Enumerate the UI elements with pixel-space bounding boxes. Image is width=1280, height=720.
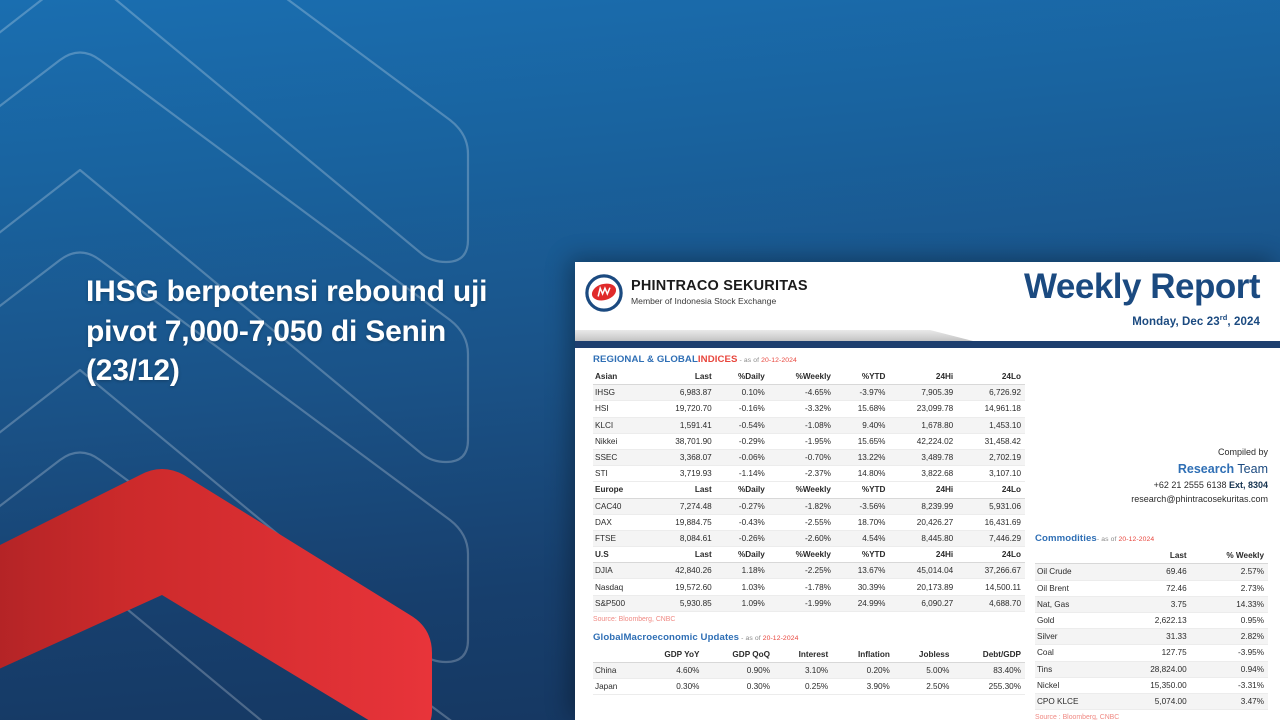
cell: -1.08% bbox=[769, 417, 835, 433]
cell: 0.95% bbox=[1191, 612, 1268, 628]
table-row[interactable]: Nasdaq19,572.601.03%-1.78%30.39%20,173.8… bbox=[593, 579, 1025, 595]
col-last: Last bbox=[1115, 548, 1190, 564]
cell: HSI bbox=[593, 401, 648, 417]
table-header-row: Europe Last %Daily %Weekly %YTD 24Hi 24L… bbox=[593, 482, 1025, 498]
cell: CPO KLCE bbox=[1035, 693, 1115, 709]
table-row[interactable]: Nikkei38,701.90-0.29%-1.95%15.65%42,224.… bbox=[593, 433, 1025, 449]
document-header: PHINTRACO SEKURITAS Member of Indonesia … bbox=[575, 262, 1280, 328]
table-row[interactable]: Coal127.75-3.95% bbox=[1035, 645, 1268, 661]
team-rest: Team bbox=[1234, 462, 1268, 476]
left-column: REGIONAL & GLOBALINDICES - as of 20-12-2… bbox=[593, 354, 1025, 720]
cell: -1.82% bbox=[769, 498, 835, 514]
table-row[interactable]: S&P5005,930.851.09%-1.99%24.99%6,090.274… bbox=[593, 595, 1025, 611]
col-gdp-yoy: GDP YoY bbox=[637, 647, 704, 663]
cell: 19,720.70 bbox=[648, 401, 716, 417]
cell: 5,074.00 bbox=[1115, 693, 1190, 709]
cell: 7,905.39 bbox=[889, 385, 957, 401]
table-row[interactable]: CAC407,274.48-0.27%-1.82%-3.56%8,239.995… bbox=[593, 498, 1025, 514]
commodities-asof-date: 20-12-2024 bbox=[1118, 536, 1154, 543]
header-ribbon-zone bbox=[575, 328, 1280, 348]
table-row[interactable]: DJIA42,840.261.18%-2.25%13.67%45,014.043… bbox=[593, 563, 1025, 579]
cell: 14,500.11 bbox=[957, 579, 1025, 595]
cell: 0.20% bbox=[832, 663, 894, 679]
indices-europe-body: CAC407,274.48-0.27%-1.82%-3.56%8,239.995… bbox=[593, 498, 1025, 547]
indices-asof-label: - as of bbox=[738, 357, 762, 364]
cell: 3,368.07 bbox=[648, 449, 716, 465]
cell: 13.22% bbox=[835, 449, 890, 465]
table-row[interactable]: HSI19,720.70-0.16%-3.32%15.68%23,099.781… bbox=[593, 401, 1025, 417]
cell: Silver bbox=[1035, 629, 1115, 645]
report-date-main: Monday, Dec 23 bbox=[1132, 316, 1219, 328]
table-row[interactable]: Oil Brent72.462.73% bbox=[1035, 580, 1268, 596]
cell: 38,701.90 bbox=[648, 433, 716, 449]
cell: 8,084.61 bbox=[648, 530, 716, 546]
cell: 13.67% bbox=[835, 563, 890, 579]
col-last: Last bbox=[648, 482, 716, 498]
col-daily: %Daily bbox=[716, 482, 769, 498]
macro-body: China4.60%0.90%3.10%0.20%5.00%83.40% Jap… bbox=[593, 663, 1025, 695]
macro-table[interactable]: GDP YoY GDP QoQ Interest Inflation Joble… bbox=[593, 647, 1025, 696]
col-commodity bbox=[1035, 548, 1115, 564]
cell: 42,840.26 bbox=[648, 563, 716, 579]
cell: IHSG bbox=[593, 385, 648, 401]
table-row[interactable]: SSEC3,368.07-0.06%-0.70%13.22%3,489.782,… bbox=[593, 449, 1025, 465]
cell: 14.33% bbox=[1191, 596, 1268, 612]
cell: STI bbox=[593, 466, 648, 482]
table-row[interactable]: Gold2,622.130.95% bbox=[1035, 612, 1268, 628]
report-title-block: Weekly Report Monday, Dec 23rd, 2024 bbox=[1024, 270, 1262, 328]
cell: 23,099.78 bbox=[889, 401, 957, 417]
research-team-line: Research Team bbox=[1035, 460, 1268, 479]
table-row[interactable]: Nickel15,350.00-3.31% bbox=[1035, 677, 1268, 693]
cell: -0.27% bbox=[716, 498, 769, 514]
col-jobless: Jobless bbox=[894, 647, 954, 663]
macro-asof-label: - as of bbox=[739, 635, 763, 642]
spacer bbox=[1035, 507, 1268, 533]
cell: -3.32% bbox=[769, 401, 835, 417]
cell: 15.68% bbox=[835, 401, 890, 417]
col-daily: %Daily bbox=[716, 369, 769, 385]
report-date-year: , 2024 bbox=[1227, 316, 1260, 328]
commodities-body: Oil Crude69.462.57% Oil Brent72.462.73% … bbox=[1035, 564, 1268, 710]
indices-asian-body: IHSG6,983.870.10%-4.65%-3.97%7,905.396,7… bbox=[593, 385, 1025, 482]
weekly-report-document[interactable]: PHINTRACO SEKURITAS Member of Indonesia … bbox=[575, 262, 1280, 720]
indices-asian-head: Asian Last %Daily %Weekly %YTD 24Hi 24Lo bbox=[593, 369, 1025, 385]
table-row[interactable]: STI3,719.93-1.14%-2.37%14.80%3,822.683,1… bbox=[593, 466, 1025, 482]
red-chevron-arrow bbox=[0, 455, 460, 720]
cell: 6,726.92 bbox=[957, 385, 1025, 401]
indices-us-head: U.S Last %Daily %Weekly %YTD 24Hi 24Lo bbox=[593, 547, 1025, 563]
col-24hi: 24Hi bbox=[889, 547, 957, 563]
commodities-source: Source : Bloomberg, CNBC bbox=[1035, 714, 1268, 720]
table-header-row: U.S Last %Daily %Weekly %YTD 24Hi 24Lo bbox=[593, 547, 1025, 563]
cell: 2.82% bbox=[1191, 629, 1268, 645]
commodities-table[interactable]: Last % Weekly Oil Crude69.462.57% Oil Br… bbox=[1035, 548, 1268, 710]
cell: 42,224.02 bbox=[889, 433, 957, 449]
macro-head: GDP YoY GDP QoQ Interest Inflation Joble… bbox=[593, 647, 1025, 663]
report-title: Weekly Report bbox=[1024, 270, 1260, 304]
cell: 1,678.80 bbox=[889, 417, 957, 433]
cell: 2,622.13 bbox=[1115, 612, 1190, 628]
table-row[interactable]: Nat, Gas3.7514.33% bbox=[1035, 596, 1268, 612]
cell: 8,445.80 bbox=[889, 530, 957, 546]
col-inflation: Inflation bbox=[832, 647, 894, 663]
col-gdp-qoq: GDP QoQ bbox=[703, 647, 774, 663]
cell: 127.75 bbox=[1115, 645, 1190, 661]
cell: -0.26% bbox=[716, 530, 769, 546]
table-row[interactable]: FTSE8,084.61-0.26%-2.60%4.54%8,445.807,4… bbox=[593, 530, 1025, 546]
cell: 20,426.27 bbox=[889, 514, 957, 530]
cell: 6,090.27 bbox=[889, 595, 957, 611]
cell: 3,107.10 bbox=[957, 466, 1025, 482]
cell: Nat, Gas bbox=[1035, 596, 1115, 612]
cell: KLCI bbox=[593, 417, 648, 433]
cell: -1.99% bbox=[769, 595, 835, 611]
indices-asof-date: 20-12-2024 bbox=[761, 357, 797, 364]
phintraco-logo-icon bbox=[585, 274, 623, 312]
cell: 18.70% bbox=[835, 514, 890, 530]
cell: -0.70% bbox=[769, 449, 835, 465]
cell: -2.60% bbox=[769, 530, 835, 546]
cell: 0.30% bbox=[703, 679, 774, 695]
cell: 37,266.67 bbox=[957, 563, 1025, 579]
col-24hi: 24Hi bbox=[889, 482, 957, 498]
brand-tagline: Member of Indonesia Stock Exchange bbox=[631, 297, 808, 306]
cell: 20,173.89 bbox=[889, 579, 957, 595]
col-europe: Europe bbox=[593, 482, 648, 498]
col-weekly: %Weekly bbox=[769, 482, 835, 498]
cell: 2.50% bbox=[894, 679, 954, 695]
cell: Nikkei bbox=[593, 433, 648, 449]
table-header-row: GDP YoY GDP QoQ Interest Inflation Joble… bbox=[593, 647, 1025, 663]
cell: 7,446.29 bbox=[957, 530, 1025, 546]
col-country bbox=[593, 647, 637, 663]
cell: -0.43% bbox=[716, 514, 769, 530]
col-last: Last bbox=[648, 369, 716, 385]
table-row[interactable]: Tins28,824.000.94% bbox=[1035, 661, 1268, 677]
col-last: Last bbox=[648, 547, 716, 563]
commodities-title: Commodities bbox=[1035, 533, 1097, 544]
cell: 9.40% bbox=[835, 417, 890, 433]
cell: 72.46 bbox=[1115, 580, 1190, 596]
cell: -3.31% bbox=[1191, 677, 1268, 693]
cell: 5.00% bbox=[894, 663, 954, 679]
cell: 15.65% bbox=[835, 433, 890, 449]
cell: 4.60% bbox=[637, 663, 704, 679]
indices-table[interactable]: Asian Last %Daily %Weekly %YTD 24Hi 24Lo… bbox=[593, 369, 1025, 612]
cell: 3.10% bbox=[774, 663, 832, 679]
cell: 3.90% bbox=[832, 679, 894, 695]
slide-headline: IHSG berpotensi rebound uji pivot 7,000-… bbox=[86, 272, 506, 391]
brand-block: PHINTRACO SEKURITAS Member of Indonesia … bbox=[585, 270, 808, 312]
cell: 3.75 bbox=[1115, 596, 1190, 612]
col-asian: Asian bbox=[593, 369, 648, 385]
table-row[interactable]: KLCI1,591.41-0.54%-1.08%9.40%1,678.801,4… bbox=[593, 417, 1025, 433]
cell: 45,014.04 bbox=[889, 563, 957, 579]
table-row[interactable]: Oil Crude69.462.57% bbox=[1035, 564, 1268, 580]
cell: China bbox=[593, 663, 637, 679]
cell: 1.09% bbox=[716, 595, 769, 611]
cell: 3,719.93 bbox=[648, 466, 716, 482]
col-interest: Interest bbox=[774, 647, 832, 663]
macro-asof-date: 20-12-2024 bbox=[763, 635, 799, 642]
indices-title-a: REGIONAL & GLOBAL bbox=[593, 354, 698, 365]
cell: S&P500 bbox=[593, 595, 648, 611]
research-bold: Research bbox=[1178, 462, 1234, 476]
table-header-row: Last % Weekly bbox=[1035, 548, 1268, 564]
col-weekly: % Weekly bbox=[1191, 548, 1268, 564]
cell: Nickel bbox=[1035, 677, 1115, 693]
table-row[interactable]: Japan0.30%0.30%0.25%3.90%2.50%255.30% bbox=[593, 679, 1025, 695]
cell: 8,239.99 bbox=[889, 498, 957, 514]
col-weekly: %Weekly bbox=[769, 369, 835, 385]
cell: 0.94% bbox=[1191, 661, 1268, 677]
indices-us-body: DJIA42,840.261.18%-2.25%13.67%45,014.043… bbox=[593, 563, 1025, 612]
cell: 24.99% bbox=[835, 595, 890, 611]
phone-ext: Ext, 8304 bbox=[1229, 480, 1268, 490]
cell: Japan bbox=[593, 679, 637, 695]
commodities-section-title: Commodities- as of 20-12-2024 bbox=[1035, 533, 1268, 544]
cell: 3.47% bbox=[1191, 693, 1268, 709]
cell: Oil Brent bbox=[1035, 580, 1115, 596]
cell: -1.14% bbox=[716, 466, 769, 482]
gray-ribbon bbox=[575, 330, 973, 341]
cell: 3,489.78 bbox=[889, 449, 957, 465]
cell: 31,458.42 bbox=[957, 433, 1025, 449]
cell: 7,274.48 bbox=[648, 498, 716, 514]
macro-section-title: GlobalMacroeconomic Updates - as of 20-1… bbox=[593, 632, 1025, 643]
cell: 3,822.68 bbox=[889, 466, 957, 482]
cell: -3.97% bbox=[835, 385, 890, 401]
commodities-asof-label: - as of bbox=[1097, 536, 1119, 543]
indices-section-title: REGIONAL & GLOBALINDICES - as of 20-12-2… bbox=[593, 354, 1025, 365]
col-24lo: 24Lo bbox=[957, 547, 1025, 563]
cell: 14,961.18 bbox=[957, 401, 1025, 417]
indices-title-b: INDICES bbox=[698, 354, 738, 365]
cell: 0.10% bbox=[716, 385, 769, 401]
report-date: Monday, Dec 23rd, 2024 bbox=[1024, 313, 1260, 328]
table-row[interactable]: DAX19,884.75-0.43%-2.55%18.70%20,426.271… bbox=[593, 514, 1025, 530]
col-ytd: %YTD bbox=[835, 482, 890, 498]
cell: FTSE bbox=[593, 530, 648, 546]
cell: -3.95% bbox=[1191, 645, 1268, 661]
cell: -1.95% bbox=[769, 433, 835, 449]
cell: 2,702.19 bbox=[957, 449, 1025, 465]
cell: -0.06% bbox=[716, 449, 769, 465]
cell: 1.18% bbox=[716, 563, 769, 579]
cell: 0.30% bbox=[637, 679, 704, 695]
cell: 2.57% bbox=[1191, 564, 1268, 580]
navy-divider-bar bbox=[575, 341, 1280, 348]
table-row[interactable]: IHSG6,983.870.10%-4.65%-3.97%7,905.396,7… bbox=[593, 385, 1025, 401]
cell: 83.40% bbox=[953, 663, 1025, 679]
commodities-head: Last % Weekly bbox=[1035, 548, 1268, 564]
col-debt-gdp: Debt/GDP bbox=[953, 647, 1025, 663]
col-ytd: %YTD bbox=[835, 547, 890, 563]
cell: Coal bbox=[1035, 645, 1115, 661]
cell: -0.54% bbox=[716, 417, 769, 433]
cell: 5,930.85 bbox=[648, 595, 716, 611]
cell: 6,983.87 bbox=[648, 385, 716, 401]
cell: -0.29% bbox=[716, 433, 769, 449]
cell: 15,350.00 bbox=[1115, 677, 1190, 693]
cell: -2.55% bbox=[769, 514, 835, 530]
cell: Oil Crude bbox=[1035, 564, 1115, 580]
phone-number: +62 21 2555 6138 bbox=[1154, 480, 1229, 490]
col-weekly: %Weekly bbox=[769, 547, 835, 563]
cell: -3.56% bbox=[835, 498, 890, 514]
col-24hi: 24Hi bbox=[889, 369, 957, 385]
cell: -1.78% bbox=[769, 579, 835, 595]
cell: 4,688.70 bbox=[957, 595, 1025, 611]
cell: -0.16% bbox=[716, 401, 769, 417]
col-us: U.S bbox=[593, 547, 648, 563]
cell: 16,431.69 bbox=[957, 514, 1025, 530]
cell: 30.39% bbox=[835, 579, 890, 595]
cell: 1.03% bbox=[716, 579, 769, 595]
cell: SSEC bbox=[593, 449, 648, 465]
cell: 1,591.41 bbox=[648, 417, 716, 433]
indices-europe-head: Europe Last %Daily %Weekly %YTD 24Hi 24L… bbox=[593, 482, 1025, 498]
col-ytd: %YTD bbox=[835, 369, 890, 385]
macro-title-b: Macroeconomic Updates bbox=[623, 632, 739, 643]
compiled-by-block: Compiled by Research Team +62 21 2555 61… bbox=[1035, 446, 1268, 507]
cell: 2.73% bbox=[1191, 580, 1268, 596]
slide-canvas: IHSG berpotensi rebound uji pivot 7,000-… bbox=[0, 0, 1280, 720]
cell: -2.37% bbox=[769, 466, 835, 482]
table-row[interactable]: Silver31.332.82% bbox=[1035, 629, 1268, 645]
cell: 255.30% bbox=[953, 679, 1025, 695]
cell: Tins bbox=[1035, 661, 1115, 677]
cell: 19,572.60 bbox=[648, 579, 716, 595]
cell: -2.25% bbox=[769, 563, 835, 579]
cell: DJIA bbox=[593, 563, 648, 579]
cell: 0.25% bbox=[774, 679, 832, 695]
macro-title-a: Global bbox=[593, 632, 623, 643]
col-24lo: 24Lo bbox=[957, 482, 1025, 498]
cell: DAX bbox=[593, 514, 648, 530]
indices-source: Source: Bloomberg, CNBC bbox=[593, 616, 1025, 623]
document-body: REGIONAL & GLOBALINDICES - as of 20-12-2… bbox=[575, 348, 1280, 720]
red-chevron-svg bbox=[0, 455, 460, 720]
compiled-label: Compiled by bbox=[1035, 446, 1268, 460]
cell: -4.65% bbox=[769, 385, 835, 401]
cell: 31.33 bbox=[1115, 629, 1190, 645]
cell: Nasdaq bbox=[593, 579, 648, 595]
cell: 5,931.06 bbox=[957, 498, 1025, 514]
cell: Gold bbox=[1035, 612, 1115, 628]
table-row[interactable]: CPO KLCE5,074.003.47% bbox=[1035, 693, 1268, 709]
cell: 69.46 bbox=[1115, 564, 1190, 580]
cell: 19,884.75 bbox=[648, 514, 716, 530]
col-daily: %Daily bbox=[716, 547, 769, 563]
cell: 14.80% bbox=[835, 466, 890, 482]
cell: CAC40 bbox=[593, 498, 648, 514]
cell: 4.54% bbox=[835, 530, 890, 546]
cell: 1,453.10 bbox=[957, 417, 1025, 433]
table-row[interactable]: China4.60%0.90%3.10%0.20%5.00%83.40% bbox=[593, 663, 1025, 679]
right-column: Compiled by Research Team +62 21 2555 61… bbox=[1035, 354, 1268, 720]
phone-line: +62 21 2555 6138 Ext, 8304 bbox=[1035, 479, 1268, 493]
cell: 28,824.00 bbox=[1115, 661, 1190, 677]
brand-name: PHINTRACO SEKURITAS bbox=[631, 279, 808, 295]
cell: 0.90% bbox=[703, 663, 774, 679]
table-header-row: Asian Last %Daily %Weekly %YTD 24Hi 24Lo bbox=[593, 369, 1025, 385]
col-24lo: 24Lo bbox=[957, 369, 1025, 385]
email-line[interactable]: research@phintracosekuritas.com bbox=[1035, 493, 1268, 507]
